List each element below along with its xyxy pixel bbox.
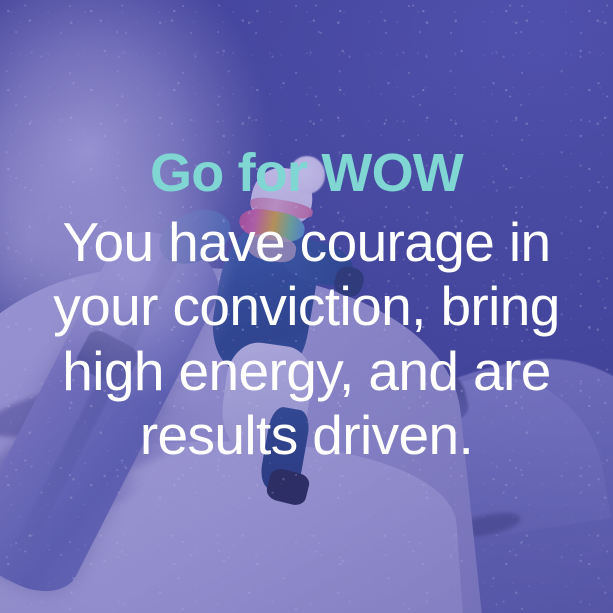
quote-text-block: Go for WOW You have courage in your conv… <box>0 0 613 613</box>
quote-line-2: your conviction, bring <box>53 274 560 338</box>
quote-line-1: You have courage in <box>53 210 560 274</box>
headline: Go for WOW <box>150 146 463 200</box>
quote-poster: Go for WOW You have courage in your conv… <box>0 0 613 613</box>
quote-line-3: high energy, and are <box>53 339 560 403</box>
quote-body: You have courage in your conviction, bri… <box>53 210 560 467</box>
quote-line-4: results driven. <box>53 403 560 467</box>
